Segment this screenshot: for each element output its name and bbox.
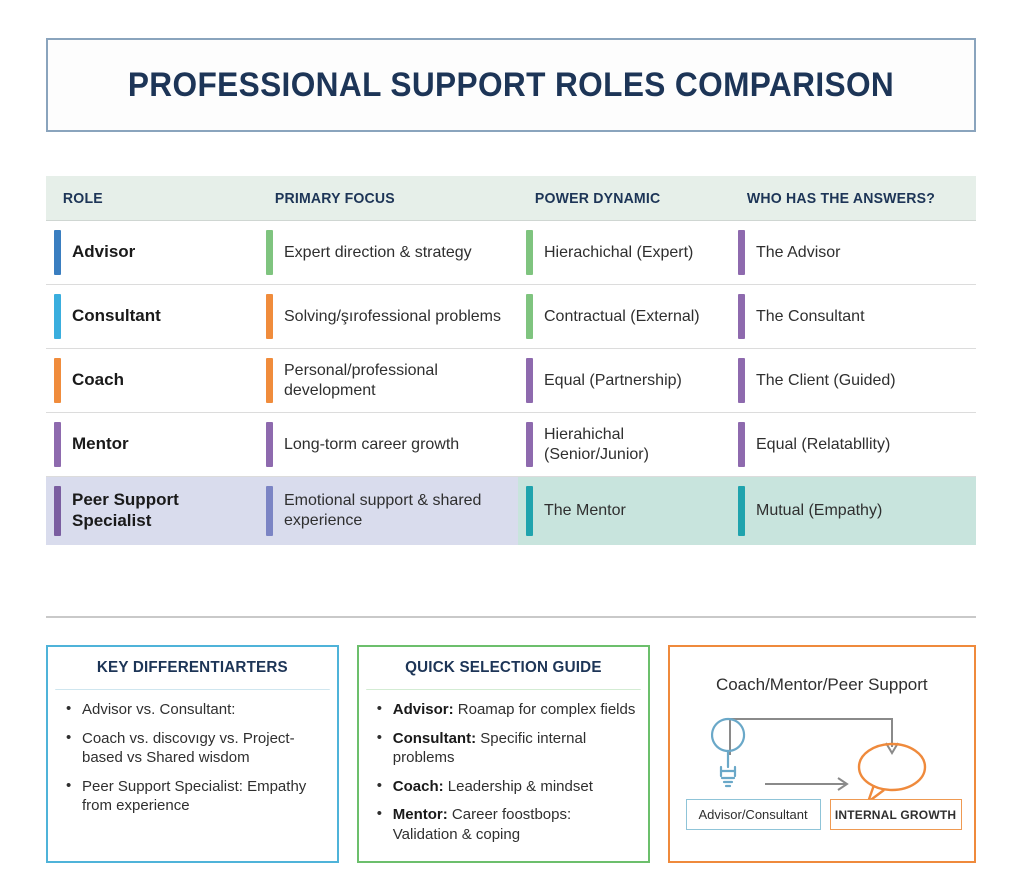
accent-bar-primary-focus [266,486,273,536]
section-divider [46,616,976,618]
cell-text-primary-focus: Long-torm career growth [284,435,467,455]
cell-who-has-the-answers: Mutual (Empathy) [730,477,976,545]
cell-text-role: Consultant [72,306,169,327]
cell-who-has-the-answers: The Consultant [730,285,976,348]
accent-bar-role [54,230,61,275]
table-row: AdvisorExpert direction & strategyHierac… [46,221,976,285]
list-item-label: Advisor: [393,701,454,718]
page-title-box: PROFESSIONAL SUPPORT ROLES COMPARISON [46,38,976,132]
cell-primary-focus: Long-torm career growth [258,413,518,476]
accent-bar-who-has-the-answers [738,486,745,536]
card-quick-selection-guide: QUICK SELECTION GUIDE Advisor: Roamap fo… [357,645,650,863]
column-header-role: ROLE [46,190,245,207]
cards-row: KEY DIFFERENTIARTERS Advisor vs. Consult… [46,645,976,863]
cell-text-power-dynamic: Contractual (External) [544,307,708,327]
accent-bar-power-dynamic [526,422,533,467]
bracket-arrow-icon [730,719,892,755]
accent-bar-who-has-the-answers [738,358,745,403]
accent-bar-role [54,294,61,339]
accent-bar-role [54,486,61,536]
flow-box-advisor-consultant: Advisor/Consultant [686,799,821,830]
column-header-power-dynamic: POWER DYNAMIC [518,190,717,207]
cell-text-role: Coach [72,370,132,391]
cell-text-power-dynamic: Equal (Partnership) [544,371,690,391]
accent-bar-who-has-the-answers [738,294,745,339]
cell-power-dynamic: The Mentor [518,477,730,545]
straight-arrow-icon [765,778,847,790]
accent-bar-primary-focus [266,422,273,467]
table-row: ConsultantSolving/şırofessional problems… [46,285,976,349]
list-item: Mentor: Career foostbops: Validation & c… [391,805,636,844]
cell-primary-focus: Expert direction & strategy [258,221,518,284]
accent-bar-who-has-the-answers [738,422,745,467]
list-item-label: Mentor: [393,806,448,823]
table-row: CoachPersonal/professional developmentEq… [46,349,976,413]
cell-text-primary-focus: Emotional support & shared experience [284,491,518,530]
cell-text-power-dynamic: The Mentor [544,501,634,521]
page-title: PROFESSIONAL SUPPORT ROLES COMPARISON [128,66,894,105]
cell-role: Mentor [46,413,258,476]
card-quick-selection-heading: QUICK SELECTION GUIDE [366,647,640,690]
list-item: Peer Support Specialist: Empathy from ex… [80,777,325,816]
cell-text-primary-focus: Solving/şırofessional problems [284,307,509,327]
cell-text-role: Mentor [72,434,137,455]
table-header-row: ROLE PRIMARY FOCUS POWER DYNAMIC WHO HAS… [46,176,976,221]
column-header-who-has-the-answers: WHO HAS THE ANSWERS? [730,190,961,207]
cell-text-primary-focus: Expert direction & strategy [284,243,480,263]
cell-text-power-dynamic: Hierachichal (Expert) [544,243,701,263]
list-item: Advisor vs. Consultant: [80,700,325,720]
column-header-primary-focus: PRIMARY FOCUS [258,190,502,207]
flow-diagram: Coach/Mentor/Peer Support [670,647,974,861]
list-item: Coach vs. discovıgy vs. Project-based vs… [80,729,325,768]
card-flow-diagram: Coach/Mentor/Peer Support [668,645,976,863]
cell-who-has-the-answers: The Advisor [730,221,976,284]
cell-text-who-has-the-answers: The Client (Guided) [756,371,904,391]
cell-text-role: Advisor [72,242,143,263]
cell-text-who-has-the-answers: The Advisor [756,243,848,263]
cell-who-has-the-answers: Equal (Relatabllity) [730,413,976,476]
cell-primary-focus: Emotional support & shared experience [258,477,518,545]
cell-power-dynamic: Hierachichal (Expert) [518,221,730,284]
comparison-table: ROLE PRIMARY FOCUS POWER DYNAMIC WHO HAS… [46,176,976,545]
flow-box-internal-growth: INTERNAL GROWTH [830,799,962,830]
list-item-label: Coach: [393,778,444,795]
cell-text-role: Peer Support Specialist [72,490,258,531]
accent-bar-power-dynamic [526,486,533,536]
cell-power-dynamic: Contractual (External) [518,285,730,348]
cell-role: Peer Support Specialist [46,477,258,545]
cell-text-who-has-the-answers: Equal (Relatabllity) [756,435,898,455]
accent-bar-power-dynamic [526,294,533,339]
lightbulb-icon [712,719,744,786]
quick-selection-list: Advisor: Roamap for complex fieldsConsul… [371,700,636,844]
accent-bar-role [54,358,61,403]
cell-text-power-dynamic: Hierahichal (Senior/Junior) [544,425,730,464]
list-item-label: Consultant: [393,730,476,747]
cell-role: Coach [46,349,258,412]
cell-role: Advisor [46,221,258,284]
cell-text-who-has-the-answers: The Consultant [756,307,873,327]
list-item: Advisor: Roamap for complex fields [391,700,636,720]
cell-primary-focus: Personal/professional development [258,349,518,412]
cell-power-dynamic: Equal (Partnership) [518,349,730,412]
list-item-text: Roamap for complex fields [454,701,636,718]
key-differentiators-list: Advisor vs. Consultant:Coach vs. discovı… [60,700,325,816]
accent-bar-role [54,422,61,467]
accent-bar-power-dynamic [526,358,533,403]
card-key-differentiators-body: Advisor vs. Consultant:Coach vs. discovı… [48,690,337,825]
accent-bar-primary-focus [266,230,273,275]
accent-bar-primary-focus [266,358,273,403]
cell-text-who-has-the-answers: Mutual (Empathy) [756,501,890,521]
table-row: MentorLong-torm career growthHierahichal… [46,413,976,477]
card-key-differentiators-heading: KEY DIFFERENTIARTERS [55,647,329,690]
cell-role: Consultant [46,285,258,348]
table-body: AdvisorExpert direction & strategyHierac… [46,221,976,545]
cell-text-primary-focus: Personal/professional development [284,361,518,400]
cell-primary-focus: Solving/şırofessional problems [258,285,518,348]
list-item: Coach: Leadership & mindset [391,777,636,797]
list-item-text: Leadership & mindset [444,778,593,795]
table-row: Peer Support SpecialistEmotional support… [46,477,976,545]
list-item: Consultant: Specific internal problems [391,729,636,768]
accent-bar-power-dynamic [526,230,533,275]
cell-power-dynamic: Hierahichal (Senior/Junior) [518,413,730,476]
accent-bar-primary-focus [266,294,273,339]
card-quick-selection-body: Advisor: Roamap for complex fieldsConsul… [359,690,648,853]
accent-bar-who-has-the-answers [738,230,745,275]
cell-who-has-the-answers: The Client (Guided) [730,349,976,412]
card-key-differentiators: KEY DIFFERENTIARTERS Advisor vs. Consult… [46,645,339,863]
